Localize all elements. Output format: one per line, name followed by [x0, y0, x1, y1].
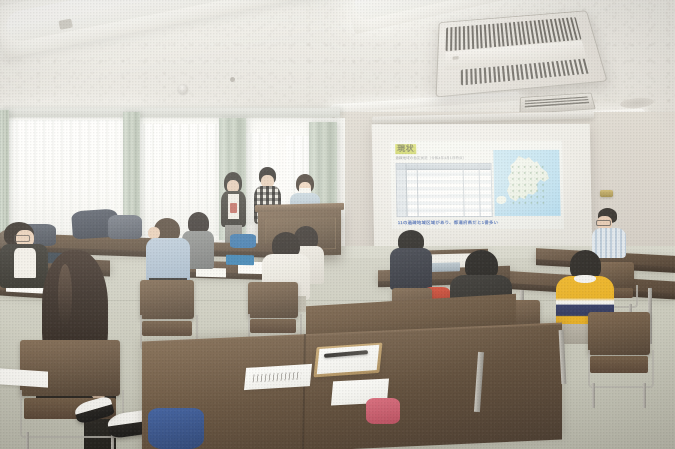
chair: [588, 312, 650, 386]
curtain-rail: [0, 108, 340, 117]
slide-table: [396, 163, 493, 217]
chair: [140, 280, 194, 348]
curtain: [0, 110, 9, 236]
slide-subtitle: 過疎地域の指定状況（令和4年4月1日時点）: [395, 156, 487, 161]
teacher: [592, 208, 626, 256]
notebook: [226, 255, 254, 266]
bag: [108, 215, 142, 239]
slide-caption: 11の過疎地域区域があり、都道府県だと1番多い: [398, 219, 558, 226]
paper: [0, 368, 48, 387]
sprinkler-icon: [178, 84, 188, 94]
bag: [148, 408, 204, 449]
student: [390, 230, 432, 292]
projected-slide: 現状 過疎地域の指定状況（令和4年4月1日時点） 11の過疎地域区域があり、都道…: [390, 141, 564, 229]
clipboard: [313, 343, 382, 378]
hokkaido-map: [493, 150, 560, 216]
notebook: [230, 234, 256, 248]
bag: [366, 398, 400, 424]
name-card: [244, 364, 312, 390]
classroom-photo: 現状 過疎地域の指定状況（令和4年4月1日時点） 11の過疎地域区域があり、都道…: [0, 0, 675, 449]
chair: [20, 340, 120, 436]
sprinkler-icon: [230, 77, 235, 82]
slide-title: 現状: [395, 144, 416, 154]
wall-plaque: [600, 190, 613, 197]
